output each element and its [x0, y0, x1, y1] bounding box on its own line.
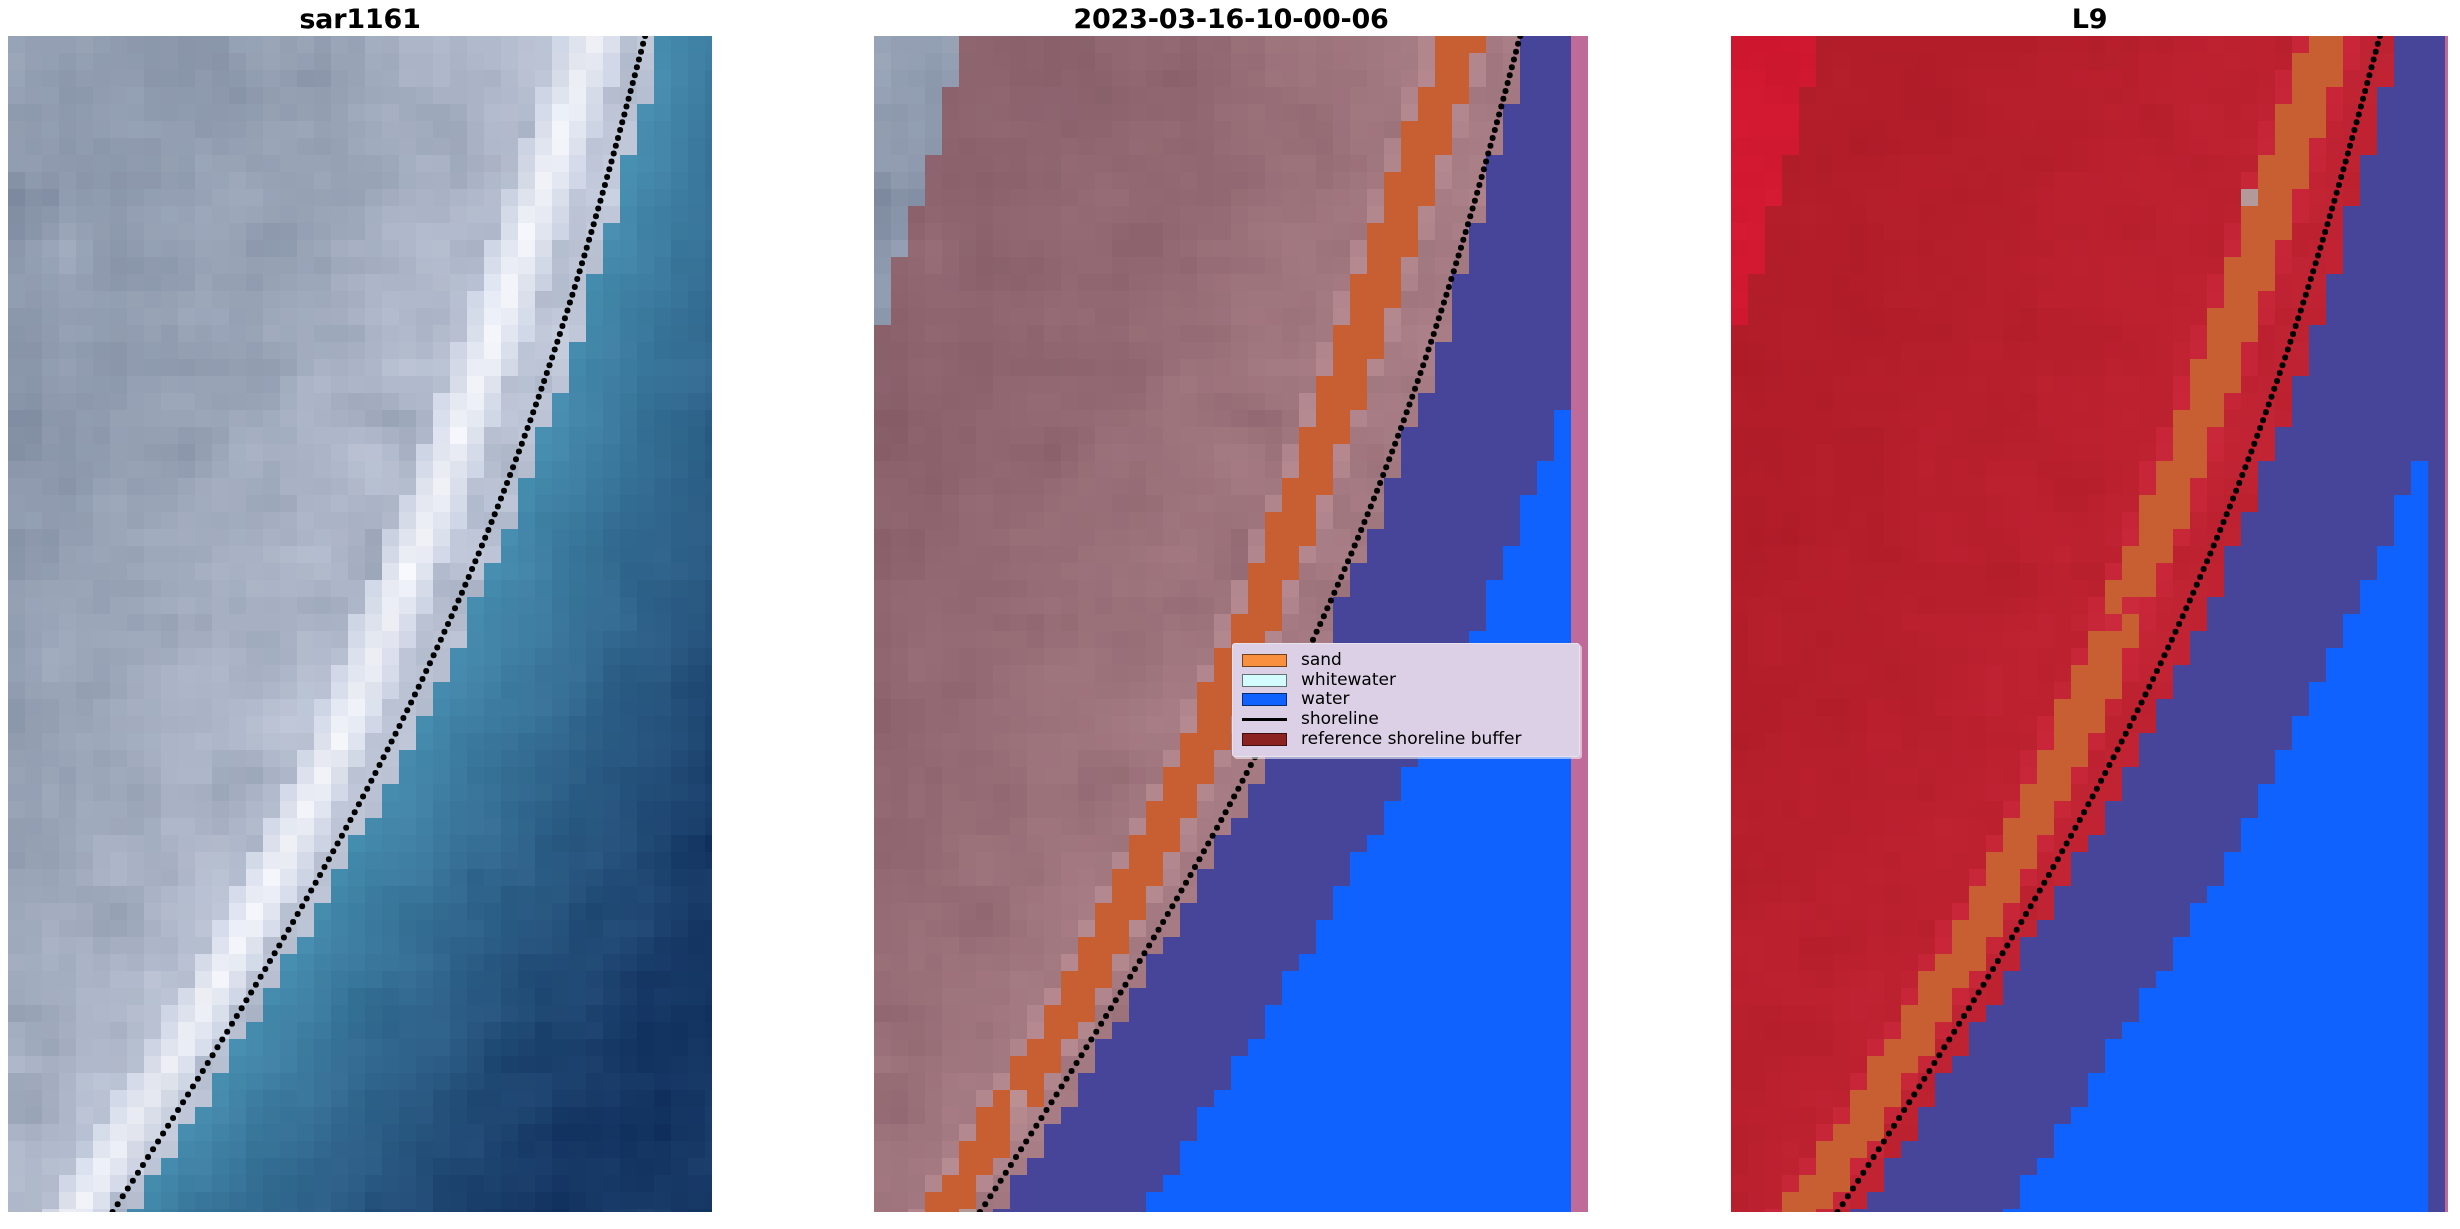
- legend-item-whitewater: whitewater: [1242, 671, 1570, 691]
- legend-label-sand: sand: [1301, 651, 1342, 670]
- classified-image-l9: [1731, 36, 2448, 1212]
- legend-swatch-sand-icon: [1242, 654, 1287, 667]
- legend-item-shoreline: shoreline: [1242, 710, 1570, 730]
- legend-swatch-reference-buffer-icon: [1242, 733, 1287, 746]
- panel-title-sar1161: sar1161: [8, 4, 712, 36]
- legend-item-reference-shoreline-buffer: reference shoreline buffer: [1242, 729, 1570, 749]
- satellite-image-sar1161: [8, 36, 712, 1212]
- classified-image-overlay: [874, 36, 1588, 1212]
- legend-swatch-shoreline-icon: [1242, 713, 1287, 726]
- legend-item-sand: sand: [1242, 651, 1570, 671]
- legend-box: sand whitewater water shoreline referenc…: [1232, 643, 1580, 757]
- legend-swatch-whitewater-icon: [1242, 674, 1287, 687]
- legend-label-whitewater: whitewater: [1301, 671, 1396, 690]
- legend-swatch-water-icon: [1242, 693, 1287, 706]
- panel-l9: L9: [1731, 0, 2448, 1229]
- panel-sar1161: sar1161: [8, 0, 712, 1229]
- legend-label-shoreline: shoreline: [1301, 710, 1379, 729]
- figure-root: sar1161 2023-03-16-10-00-06 L9 sand whit…: [0, 0, 2460, 1229]
- legend-label-reference-shoreline-buffer: reference shoreline buffer: [1301, 730, 1522, 749]
- panel-image-classified: [874, 36, 1588, 1212]
- legend-label-water: water: [1301, 690, 1349, 709]
- panel-classified: 2023-03-16-10-00-06: [874, 0, 1588, 1229]
- panel-title-l9: L9: [1731, 4, 2448, 36]
- legend-item-water: water: [1242, 690, 1570, 710]
- panel-title-classified: 2023-03-16-10-00-06: [874, 4, 1588, 36]
- panel-image-sar1161: [8, 36, 712, 1212]
- panel-image-l9: [1731, 36, 2448, 1212]
